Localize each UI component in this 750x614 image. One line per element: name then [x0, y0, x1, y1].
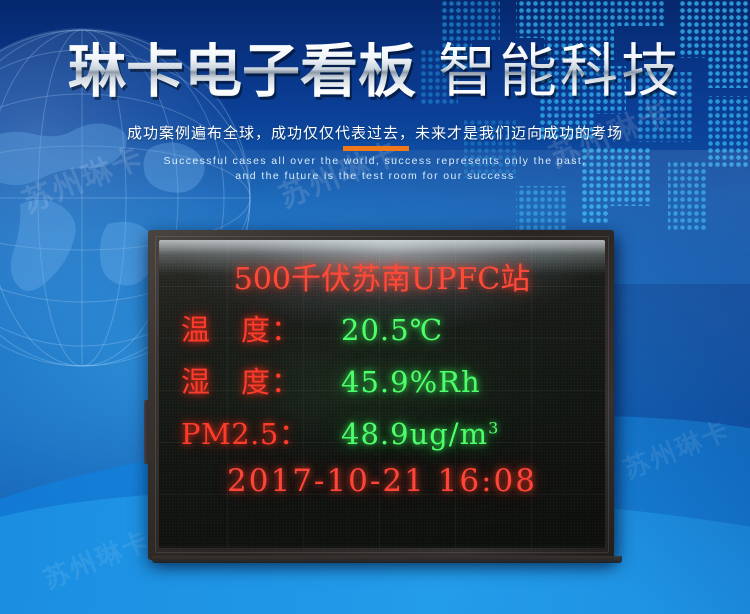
brand-title: 琳卡电子看板 [68, 42, 416, 100]
led-row-temperature: 温 度： 20.5℃ [159, 307, 605, 349]
panel-bottom-rail [152, 556, 622, 563]
led-row-humidity: 湿 度： 45.9%Rh [159, 359, 605, 401]
led-display-panel: 500千伏苏南UPFC站 温 度： 20.5℃ 湿 度： 45.9%Rh PM2… [148, 230, 614, 560]
humidity-value: 45.9%Rh [341, 365, 481, 399]
pm25-value: 48.9ug/m3 [341, 417, 498, 451]
orange-divider [343, 146, 409, 151]
subtitle-chinese: 成功案例遍布全球，成功仅仅代表过去，未来才是我们迈向成功的考场 [0, 122, 750, 143]
pm25-label: PM2.5： [159, 411, 341, 453]
banner-headline: 琳卡电子看板智能科技 [0, 42, 750, 100]
led-screen: 500千伏苏南UPFC站 温 度： 20.5℃ 湿 度： 45.9%Rh PM2… [159, 240, 605, 548]
brand-tagline: 智能科技 [438, 42, 682, 100]
temperature-value: 20.5℃ [341, 313, 443, 347]
led-datetime: 2017-10-21 16:08 [159, 463, 605, 499]
halftone-map-pattern [420, 0, 750, 230]
led-content: 500千伏苏南UPFC站 温 度： 20.5℃ 湿 度： 45.9%Rh PM2… [159, 240, 605, 499]
led-row-pm25: PM2.5： 48.9ug/m3 [159, 411, 605, 453]
promo-banner-image: 苏州琳卡 苏州琳卡 苏州琳卡 苏州琳卡 苏州琳卡 苏州琳卡 苏州琳卡 琳卡电子看… [0, 0, 750, 614]
pm25-number: 48.9ug/m [341, 417, 488, 451]
subtitle-english-line-2: and the future is the test room for our … [0, 169, 750, 184]
subtitle-english: Successful cases all over the world, suc… [0, 154, 750, 184]
pm25-superscript: 3 [488, 418, 498, 437]
humidity-label: 湿 度： [159, 359, 341, 401]
led-station-title: 500千伏苏南UPFC站 [159, 254, 605, 298]
subtitle-english-line-1: Successful cases all over the world, suc… [0, 154, 750, 169]
temperature-label: 温 度： [159, 307, 341, 349]
